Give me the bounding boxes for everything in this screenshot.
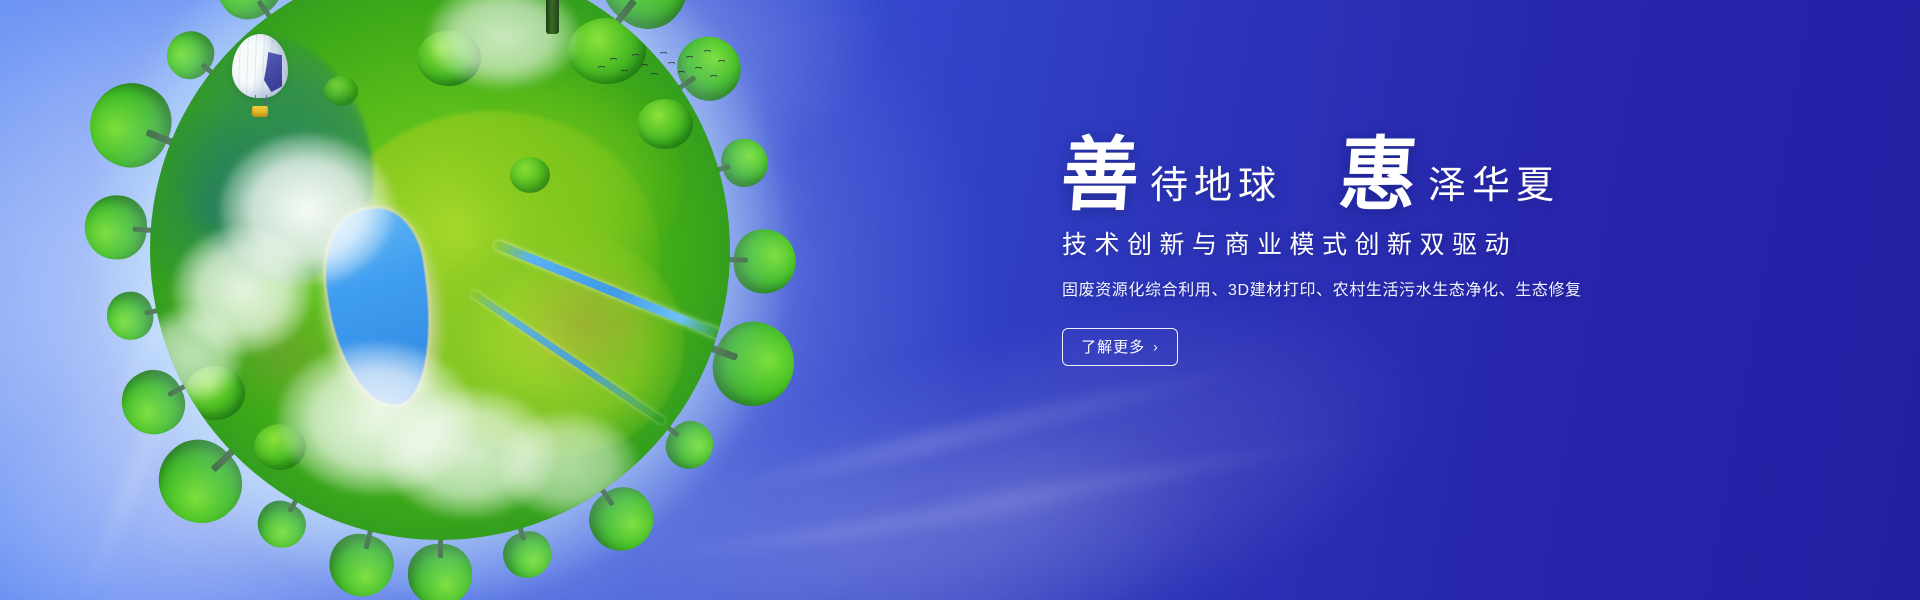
headline-text-1: 待地球: [1138, 167, 1282, 212]
bird-icon: [704, 50, 711, 54]
tree-canopy: [324, 76, 358, 106]
bird-flock: [596, 46, 728, 88]
bird-icon: [610, 58, 617, 62]
bird-icon: [598, 66, 605, 70]
headline-char-large-1: 善: [1059, 140, 1142, 214]
bird-icon: [718, 60, 725, 64]
bird-icon: [632, 54, 639, 58]
bird-icon: [668, 62, 675, 66]
bird-icon: [660, 52, 667, 56]
tree-canopy: [510, 157, 550, 193]
bird-icon: [641, 64, 648, 68]
learn-more-label: 了解更多: [1081, 340, 1145, 355]
banner-description: 固废资源化综合利用、3D建材打印、农村生活污水生态净化、生态修复: [1062, 280, 1802, 302]
chevron-right-icon: ›: [1153, 340, 1159, 354]
balloon-basket: [252, 106, 268, 117]
hero-tree: [450, 0, 660, 14]
page-title: 善 待地球 惠 泽华夏: [1062, 128, 1802, 212]
bird-icon: [678, 71, 685, 75]
bird-icon: [695, 67, 702, 71]
headline-char-large-2: 惠: [1337, 140, 1420, 214]
banner-copy: 善 待地球 惠 泽华夏 技术创新与商业模式创新双驱动 固废资源化综合利用、3D建…: [1062, 128, 1802, 366]
tree-trunk: [546, 0, 559, 34]
tree-canopy: [637, 99, 693, 149]
headline-text-2: 泽华夏: [1416, 167, 1560, 212]
banner-subtitle: 技术创新与商业模式创新双驱动: [1062, 230, 1802, 260]
hot-air-balloon: [232, 34, 288, 120]
bird-icon: [710, 75, 717, 79]
bird-icon: [686, 56, 693, 60]
bird-icon: [651, 73, 658, 77]
cloud-wisp: [763, 426, 1377, 551]
hero-banner: 善 待地球 惠 泽华夏 技术创新与商业模式创新双驱动 固废资源化综合利用、3D建…: [0, 0, 1920, 600]
surface-cloud: [498, 412, 637, 516]
bird-icon: [621, 70, 628, 74]
learn-more-button[interactable]: 了解更多 ›: [1062, 328, 1178, 366]
